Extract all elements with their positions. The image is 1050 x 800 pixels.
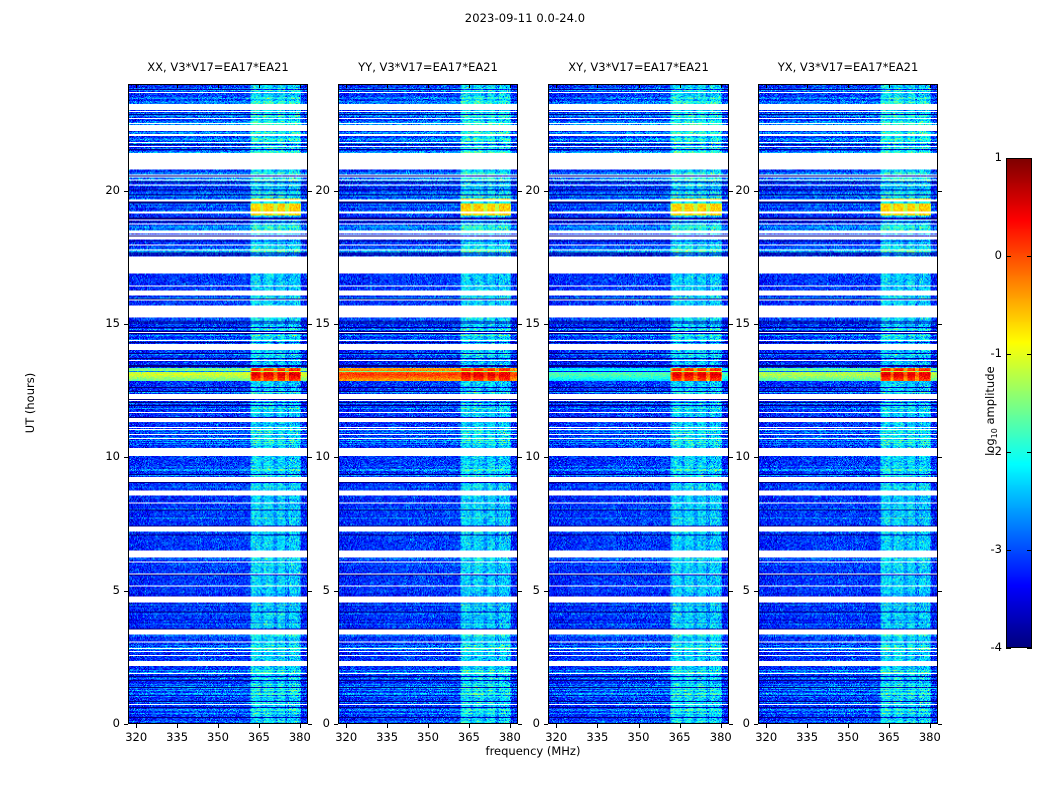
x-tick-mark-top (889, 84, 890, 88)
x-tick-label: 365 (869, 730, 909, 744)
x-tick-mark (346, 724, 347, 728)
figure-suptitle: 2023-09-11 0.0-24.0 (0, 11, 1050, 25)
y-tick-mark-right (938, 724, 942, 725)
colorbar[interactable] (1006, 158, 1032, 648)
y-tick-label: 10 (296, 449, 330, 463)
colorbar-tick (1006, 256, 1011, 257)
x-tick-mark (889, 724, 890, 728)
x-tick-label: 365 (449, 730, 489, 744)
colorbar-label: log10 amplitude (983, 341, 999, 481)
y-tick-label: 15 (86, 316, 120, 330)
waterfall-panel-xy[interactable] (548, 84, 729, 724)
x-tick-mark-top (930, 84, 931, 88)
y-tick-label: 15 (716, 316, 750, 330)
y-tick-label: 20 (86, 183, 120, 197)
y-tick-label: 10 (506, 449, 540, 463)
colorbar-tick (1006, 452, 1011, 453)
x-axis-label: frequency (MHz) (128, 744, 938, 758)
y-tick-label: 0 (296, 716, 330, 730)
x-tick-mark-top (721, 84, 722, 88)
x-tick-label: 320 (746, 730, 786, 744)
x-tick-label: 350 (408, 730, 448, 744)
colorbar-tick (1006, 354, 1011, 355)
y-tick-mark (754, 457, 758, 458)
y-tick-label: 5 (296, 583, 330, 597)
y-tick-label: 20 (506, 183, 540, 197)
x-tick-label: 365 (239, 730, 279, 744)
x-tick-mark-top (428, 84, 429, 88)
y-tick-mark (754, 591, 758, 592)
x-tick-label: 350 (198, 730, 238, 744)
x-tick-mark-top (387, 84, 388, 88)
x-tick-label: 335 (787, 730, 827, 744)
y-tick-label: 15 (296, 316, 330, 330)
x-tick-mark-top (597, 84, 598, 88)
y-tick-mark (124, 191, 128, 192)
waterfall-panel-xx[interactable] (128, 84, 308, 724)
colorbar-tick-right (1027, 648, 1032, 649)
y-tick-mark (544, 724, 548, 725)
x-tick-mark-top (300, 84, 301, 88)
y-tick-label: 20 (716, 183, 750, 197)
x-tick-label: 365 (660, 730, 700, 744)
colorbar-label-sub: 10 (990, 428, 999, 438)
y-tick-mark-right (938, 324, 942, 325)
y-tick-mark (754, 191, 758, 192)
y-tick-mark (334, 191, 338, 192)
x-tick-mark (469, 724, 470, 728)
x-tick-mark (766, 724, 767, 728)
colorbar-tick-right (1027, 354, 1032, 355)
x-tick-mark-top (177, 84, 178, 88)
colorbar-tick (1006, 550, 1011, 551)
y-tick-mark (124, 591, 128, 592)
x-tick-mark (428, 724, 429, 728)
colorbar-tick-label: 1 (972, 150, 1002, 164)
y-tick-mark (544, 191, 548, 192)
x-tick-mark-top (346, 84, 347, 88)
y-tick-label: 5 (716, 583, 750, 597)
y-tick-mark (544, 324, 548, 325)
y-tick-mark-right (938, 457, 942, 458)
x-tick-label: 350 (828, 730, 868, 744)
x-tick-label: 380 (490, 730, 530, 744)
colorbar-tick-right (1027, 158, 1032, 159)
colorbar-label-tail: amplitude (983, 366, 997, 428)
waterfall-panel-yx[interactable] (758, 84, 938, 724)
x-tick-label: 350 (619, 730, 659, 744)
y-tick-mark-right (938, 191, 942, 192)
y-tick-mark (334, 591, 338, 592)
x-tick-mark (177, 724, 178, 728)
x-tick-mark (136, 724, 137, 728)
y-tick-label: 5 (506, 583, 540, 597)
y-tick-label: 0 (716, 716, 750, 730)
x-tick-label: 320 (116, 730, 156, 744)
panel-title-xx: XX, V3*V17=EA17*EA21 (128, 60, 308, 74)
colorbar-tick (1006, 158, 1011, 159)
y-tick-mark (544, 591, 548, 592)
x-tick-label: 335 (367, 730, 407, 744)
x-tick-mark (639, 724, 640, 728)
colorbar-tick-right (1027, 550, 1032, 551)
x-tick-label: 335 (577, 730, 617, 744)
y-tick-label: 0 (86, 716, 120, 730)
x-tick-mark-top (680, 84, 681, 88)
y-tick-label: 10 (716, 449, 750, 463)
x-tick-mark-top (766, 84, 767, 88)
colorbar-tick-right (1027, 452, 1032, 453)
x-tick-mark-top (510, 84, 511, 88)
y-tick-mark (124, 457, 128, 458)
y-tick-label: 15 (506, 316, 540, 330)
x-tick-mark (259, 724, 260, 728)
x-tick-mark-top (218, 84, 219, 88)
y-tick-mark (754, 324, 758, 325)
x-tick-mark (387, 724, 388, 728)
figure-canvas: 2023-09-11 0.0-24.0 XX, V3*V17=EA17*EA21… (0, 0, 1050, 800)
y-axis-label: UT (hours) (23, 343, 37, 463)
panel-title-yy: YY, V3*V17=EA17*EA21 (338, 60, 518, 74)
x-tick-label: 320 (536, 730, 576, 744)
colorbar-tick (1006, 648, 1011, 649)
colorbar-tick-right (1027, 256, 1032, 257)
y-tick-label: 0 (506, 716, 540, 730)
x-tick-mark-top (807, 84, 808, 88)
y-tick-label: 5 (86, 583, 120, 597)
y-tick-mark (334, 457, 338, 458)
x-tick-mark (556, 724, 557, 728)
x-tick-mark-top (639, 84, 640, 88)
x-tick-mark-top (469, 84, 470, 88)
y-tick-label: 20 (296, 183, 330, 197)
colorbar-label-main: log (983, 438, 997, 456)
y-tick-mark (334, 724, 338, 725)
colorbar-tick-label: 0 (972, 248, 1002, 262)
x-tick-label: 380 (701, 730, 741, 744)
x-tick-mark-top (556, 84, 557, 88)
y-tick-mark-right (938, 591, 942, 592)
panel-title-xy: XY, V3*V17=EA17*EA21 (548, 60, 729, 74)
y-tick-mark (544, 457, 548, 458)
x-tick-mark (930, 724, 931, 728)
y-tick-label: 10 (86, 449, 120, 463)
waterfall-panel-yy[interactable] (338, 84, 518, 724)
x-tick-mark (597, 724, 598, 728)
y-tick-mark (754, 724, 758, 725)
y-tick-mark (124, 724, 128, 725)
x-tick-mark (680, 724, 681, 728)
x-tick-mark-top (136, 84, 137, 88)
y-tick-mark (124, 324, 128, 325)
x-tick-label: 380 (280, 730, 320, 744)
panel-title-yx: YX, V3*V17=EA17*EA21 (758, 60, 938, 74)
x-tick-mark (218, 724, 219, 728)
x-tick-mark-top (848, 84, 849, 88)
x-tick-mark-top (259, 84, 260, 88)
x-tick-label: 320 (326, 730, 366, 744)
x-tick-label: 380 (910, 730, 950, 744)
y-tick-mark (334, 324, 338, 325)
x-tick-mark (807, 724, 808, 728)
x-tick-mark (848, 724, 849, 728)
colorbar-tick-label: -4 (972, 640, 1002, 654)
colorbar-tick-label: -3 (972, 542, 1002, 556)
x-tick-label: 335 (157, 730, 197, 744)
